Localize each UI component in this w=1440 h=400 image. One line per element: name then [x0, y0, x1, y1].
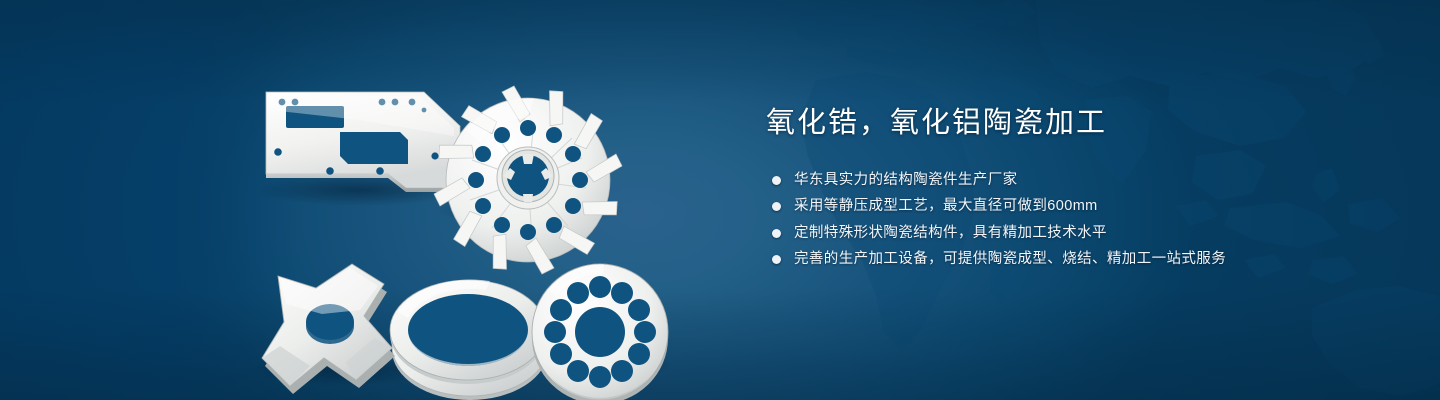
bullet-dot-icon — [772, 202, 781, 211]
feature-list-item: 定制特殊形状陶瓷结构件，具有精加工技术水平 — [772, 226, 1386, 241]
feature-text: 定制特殊形状陶瓷结构件，具有精加工技术水平 — [794, 226, 1107, 241]
feature-text: 采用等静压成型工艺，最大直径可做到600mm — [794, 199, 1098, 214]
bullet-dot-icon — [772, 229, 781, 238]
ceramic-rings-shape — [390, 280, 548, 400]
hero-banner: 氧化锆，氧化铝陶瓷加工 华东具实力的结构陶瓷件生产厂家 采用等静压成型工艺，最大… — [0, 0, 1440, 400]
bullet-dot-icon — [772, 176, 781, 185]
feature-list-item: 采用等静压成型工艺，最大直径可做到600mm — [772, 199, 1386, 214]
feature-list: 华东具实力的结构陶瓷件生产厂家 采用等静压成型工艺，最大直径可做到600mm 定… — [772, 173, 1386, 267]
feature-list-item: 华东具实力的结构陶瓷件生产厂家 — [772, 173, 1386, 188]
feature-text: 完善的生产加工设备，可提供陶瓷成型、烧结、精加工一站式服务 — [794, 252, 1226, 267]
feature-list-item: 完善的生产加工设备，可提供陶瓷成型、烧结、精加工一站式服务 — [772, 252, 1386, 267]
feature-text: 华东具实力的结构陶瓷件生产厂家 — [794, 173, 1018, 188]
ceramic-perforated-disc-shape — [532, 264, 668, 400]
banner-headline: 氧化锆，氧化铝陶瓷加工 — [766, 106, 1386, 141]
ceramic-impeller-shape — [434, 86, 623, 275]
product-photo-group — [210, 40, 730, 380]
bullet-dot-icon — [772, 255, 781, 264]
banner-copy: 氧化锆，氧化铝陶瓷加工 华东具实力的结构陶瓷件生产厂家 采用等静压成型工艺，最大… — [766, 106, 1386, 279]
ceramic-flat-plate-shape — [266, 92, 460, 192]
